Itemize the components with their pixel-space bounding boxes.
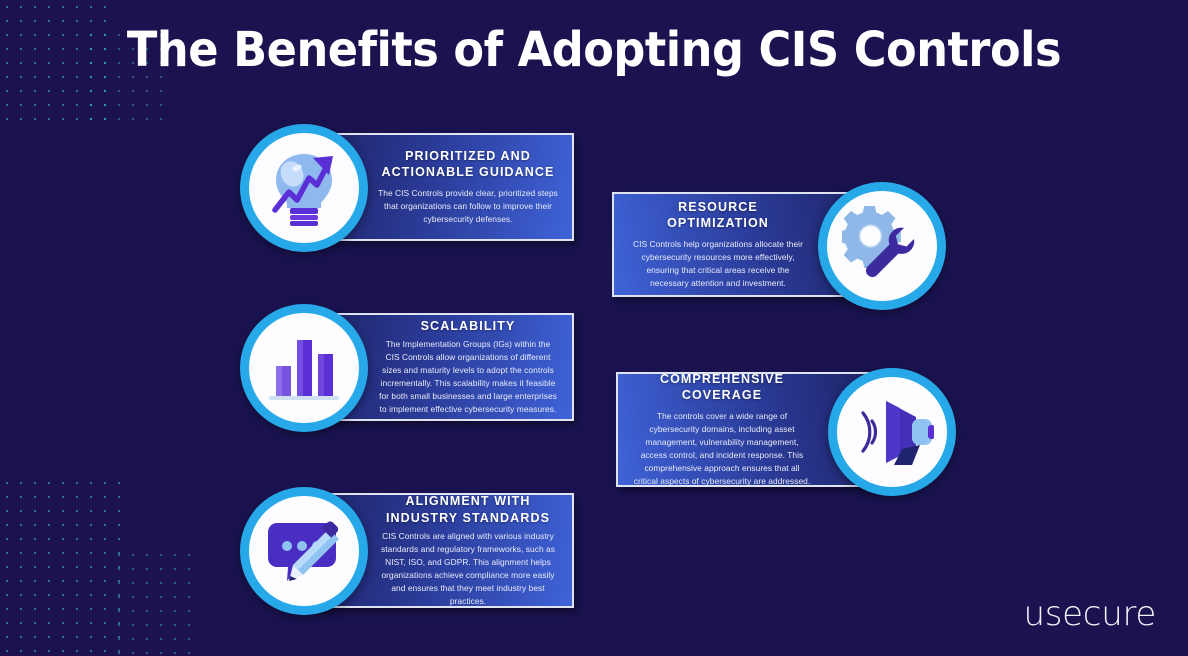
card-body: The controls cover a wide range of cyber… (632, 410, 856, 488)
lightbulb-growth-icon (267, 148, 341, 228)
brand-logo-usecure: usecure (1024, 594, 1156, 634)
card-title: SCALABILITY (334, 318, 558, 335)
medallion-scalability (240, 304, 368, 432)
medallion-inner (837, 377, 947, 487)
medallion-prioritized-and-actionable-guidance (240, 124, 368, 252)
speech-bubble-pencil-icon (263, 515, 345, 587)
gear-wrench-icon (842, 206, 922, 286)
bar-chart-icon (266, 332, 342, 404)
card-title: ALIGNMENT WITH INDUSTRY STANDARDS (334, 493, 558, 527)
medallion-alignment-with-industry-standards (240, 487, 368, 615)
card-title: PRIORITIZED AND ACTIONABLE GUIDANCE (334, 148, 558, 182)
medallion-comprehensive-coverage (828, 368, 956, 496)
card-title: COMPREHENSIVE COVERAGE (632, 371, 856, 405)
medallion-inner (249, 313, 359, 423)
card-title: RESOURCE OPTIMIZATION (628, 199, 852, 233)
medallion-inner (249, 496, 359, 606)
card-body: The Implementation Groups (IGs) within t… (334, 338, 558, 416)
page-title: The Benefits of Adopting CIS Controls (42, 22, 1147, 78)
medallion-inner (827, 191, 937, 301)
megaphone-icon (850, 395, 934, 469)
medallion-resource-optimization (818, 182, 946, 310)
card-body: CIS Controls are aligned with various in… (334, 530, 558, 608)
dot-pattern-bottom-left (0, 476, 126, 656)
medallion-inner (249, 133, 359, 243)
dot-pattern-bottom-left-secondary (112, 548, 196, 656)
